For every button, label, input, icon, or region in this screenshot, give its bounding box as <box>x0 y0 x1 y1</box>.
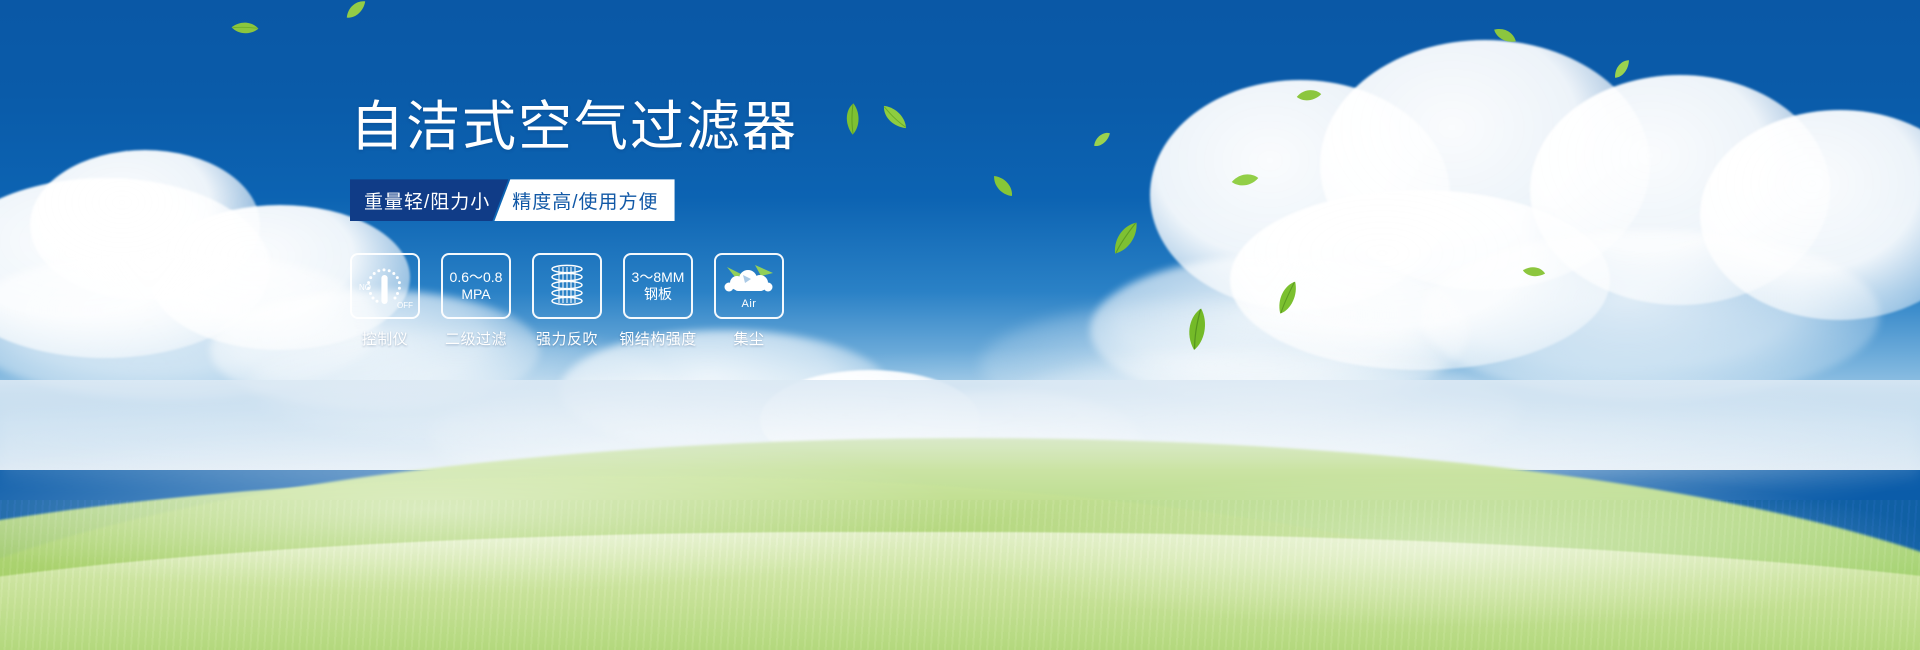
feature-label: 钢结构强度 <box>619 328 697 349</box>
feature-item: NO OFF 控制仪 <box>350 253 420 349</box>
feature-icon-box: Air <box>714 253 784 319</box>
feature-icon-box <box>532 253 602 319</box>
feature-label: 集尘 <box>733 328 764 349</box>
feature-label: 强力反吹 <box>536 328 598 349</box>
pressure-text-icon: 0.6～0.8 MPA <box>450 269 503 303</box>
tagline-row: 重量轻/阻力小 精度高/使用方便 <box>350 179 674 221</box>
feature-item: 0.6～0.8 MPA 二级过滤 <box>441 253 511 349</box>
stacked-discs-icon <box>541 260 593 312</box>
steel-plate-text-icon: 3～8MM 钢板 <box>632 269 685 303</box>
air-label: Air <box>742 298 757 310</box>
feature-item: Air 集尘 <box>714 253 784 349</box>
feature-icon-box: NO OFF <box>350 253 420 319</box>
gauge-label-right: OFF <box>397 301 413 310</box>
gauge-label-left: NO <box>359 283 371 292</box>
feature-label: 二级过滤 <box>445 328 507 349</box>
banner-content: 自洁式空气过滤器 重量轻/阻力小 精度高/使用方便 <box>350 98 970 349</box>
feature-item: 3～8MM 钢板 钢结构强度 <box>623 253 693 349</box>
page-title: 自洁式空气过滤器 <box>350 98 970 157</box>
dial-gauge-icon: NO OFF <box>357 260 413 312</box>
feature-icon-box: 3～8MM 钢板 <box>623 253 693 319</box>
grass-field <box>0 380 1920 650</box>
cloud-air-icon <box>721 263 777 297</box>
banner-root: 自洁式空气过滤器 重量轻/阻力小 精度高/使用方便 <box>0 0 1920 650</box>
cloud-right-6 <box>1420 230 1880 400</box>
tagline-primary: 重量轻/阻力小 <box>350 179 508 221</box>
feature-icon-box: 0.6～0.8 MPA <box>441 253 511 319</box>
feature-list: NO OFF 控制仪 0.6～0.8 MPA 二级过滤 <box>350 253 970 349</box>
tagline-secondary: 精度高/使用方便 <box>494 179 674 221</box>
feature-item: 强力反吹 <box>532 253 602 349</box>
feature-label: 控制仪 <box>362 328 409 349</box>
